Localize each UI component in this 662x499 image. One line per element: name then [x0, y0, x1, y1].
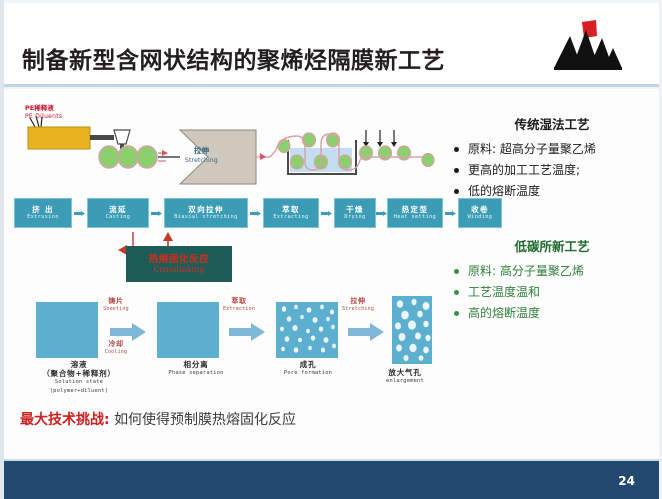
flow-step-label-en: Extracting	[273, 214, 308, 221]
pore-arrow-label-en: Stretching	[328, 305, 388, 313]
flow-step-heat-setting[interactable]: 热定型 Heat setting	[387, 198, 443, 228]
new-process-group: 低碳所新工艺 原料: 高分子量聚乙烯 工艺温度温和 高的熔断温度	[452, 236, 652, 324]
flow-step-extracting[interactable]: 萃取 Extracting	[263, 198, 319, 228]
page-title: 制备新型含网状结构的聚烯烃隔膜新工艺	[22, 41, 445, 75]
pore-arrow-label-cn: 冷却	[88, 340, 144, 348]
list-item: 原料: 高分子量聚乙烯	[452, 261, 652, 282]
new-process-bullets: 原料: 高分子量聚乙烯 工艺温度温和 高的熔断温度	[452, 261, 652, 324]
flow-step-label-cn: 萃取	[282, 205, 300, 214]
pore-arrow-label-cn: 萃取	[208, 297, 270, 305]
crosslinking-callout-box[interactable]: 热熔固化反应 Crosslinking	[126, 246, 232, 282]
new-process-heading: 低碳所新工艺	[452, 236, 652, 255]
pe-diluents-label-cn: PE稀释液	[25, 104, 54, 112]
pore-arrow-label-extraction: 萃取 Extraction	[208, 297, 270, 313]
stretching-label-cn: 拉伸	[194, 146, 209, 155]
flow-step-label-en: Biaxial stretching	[174, 214, 237, 221]
pore-arrow-label-cn: 铸片	[88, 297, 144, 305]
pore-arrow-label-stretching: 拉伸 Stretching	[328, 297, 388, 313]
pore-stage-caption-cn: 溶液	[24, 360, 134, 369]
flow-step-casting[interactable]: 流延 Casting	[87, 198, 149, 228]
flow-arrow-icon	[321, 211, 332, 216]
flow-step-label-en: Drying	[344, 214, 365, 221]
pore-stage-caption-cn: 相分离	[132, 360, 260, 369]
pore-stage-caption-phase-separation: 相分离 Phase separation	[132, 360, 260, 378]
list-item: 更高的加工工艺温度;	[452, 160, 652, 181]
process-flow-chain: 挤 出 Extrusion 流延 Casting 双向拉伸 Biaxial st…	[14, 198, 434, 232]
flow-arrow-icon	[250, 211, 261, 216]
flow-step-label-cn: 流延	[109, 205, 127, 214]
pore-stage-caption-en2: (polymer+diluent)	[24, 387, 134, 396]
stretching-label: 拉伸 Stretching	[185, 146, 218, 165]
flow-step-label-en: Extrusion	[27, 214, 59, 221]
flow-step-label-cn: 双向拉伸	[188, 205, 224, 214]
pore-stage-caption-solution: 溶液 （聚合物+稀释剂） Solution state (polymer+dil…	[24, 360, 134, 396]
pore-arrow-label-en: Sheeting	[88, 305, 144, 313]
conclusion-line: 最大技术挑战: 如何使得预制膜热熔固化反应	[20, 409, 296, 429]
traditional-process-heading: 传统湿法工艺	[452, 114, 652, 133]
list-item: 原料: 超高分子量聚乙烯	[452, 139, 652, 160]
conclusion-label: 最大技术挑战:	[20, 412, 110, 428]
pore-stage-caption-enlargement: 放大气孔 enlargement	[350, 368, 460, 386]
pore-stage-caption-en: Solution state	[24, 378, 134, 387]
flow-step-label-cn: 挤 出	[32, 205, 54, 214]
stretching-label-en: Stretching	[185, 157, 218, 164]
list-item: 工艺温度温和	[452, 282, 652, 303]
flow-arrow-icon	[376, 211, 387, 216]
slide-footer: 24	[4, 461, 659, 499]
pore-arrow-label-cooling: 冷却 Cooling	[88, 340, 144, 356]
pore-arrow-label-en: Extraction	[208, 305, 270, 313]
pe-diluents-label: PE稀释液 PE Diluents	[25, 104, 62, 121]
slide-canvas: 制备新型含网状结构的聚烯烃隔膜新工艺	[0, 0, 662, 499]
list-item: 低的熔断温度	[452, 181, 652, 202]
flow-step-drying[interactable]: 干燥 Drying	[334, 198, 376, 228]
pore-stage-caption-cn2: （聚合物+稀释剂）	[24, 369, 134, 378]
crosslinking-label-cn: 热熔固化反应	[149, 254, 210, 265]
pe-diluents-label-en: PE Diluents	[25, 113, 62, 120]
pore-stage-caption-en: enlargement	[350, 377, 460, 386]
traditional-process-bullets: 原料: 超高分子量聚乙烯 更高的加工工艺温度; 低的熔断温度	[452, 139, 652, 202]
flow-step-biaxial-stretching[interactable]: 双向拉伸 Biaxial stretching	[164, 198, 248, 228]
flow-step-label-cn: 热定型	[402, 205, 429, 214]
flow-arrow-icon	[74, 211, 85, 216]
traditional-process-group: 传统湿法工艺 原料: 超高分子量聚乙烯 更高的加工工艺温度; 低的熔断温度	[452, 114, 652, 202]
production-line-diagram	[8, 100, 438, 195]
flow-step-label-en: Heat setting	[394, 214, 436, 221]
company-mountain-logo	[552, 16, 626, 74]
page-number: 24	[618, 474, 635, 488]
flow-step-label-cn: 干燥	[346, 205, 364, 214]
list-item: 高的熔断温度	[452, 303, 652, 324]
pore-stage-caption-cn: 放大气孔	[350, 368, 460, 377]
pore-arrow-label-cn: 拉伸	[328, 297, 388, 305]
pore-arrow-label-en: Cooling	[88, 348, 144, 356]
flow-step-extrusion[interactable]: 挤 出 Extrusion	[14, 198, 72, 228]
flow-arrow-icon	[151, 211, 162, 216]
pore-stage-caption-en: Phase separation	[132, 369, 260, 378]
pore-arrow-label-sheeting: 铸片 Sheeting	[88, 297, 144, 313]
comparison-panel: 传统湿法工艺 原料: 超高分子量聚乙烯 更高的加工工艺温度; 低的熔断温度 低碳…	[452, 114, 652, 324]
crosslinking-label-en: Crosslinking	[154, 265, 205, 275]
conclusion-text: 如何使得预制膜热熔固化反应	[114, 412, 296, 428]
header-divider-secondary	[4, 87, 659, 89]
flow-step-label-en: Casting	[106, 214, 131, 221]
